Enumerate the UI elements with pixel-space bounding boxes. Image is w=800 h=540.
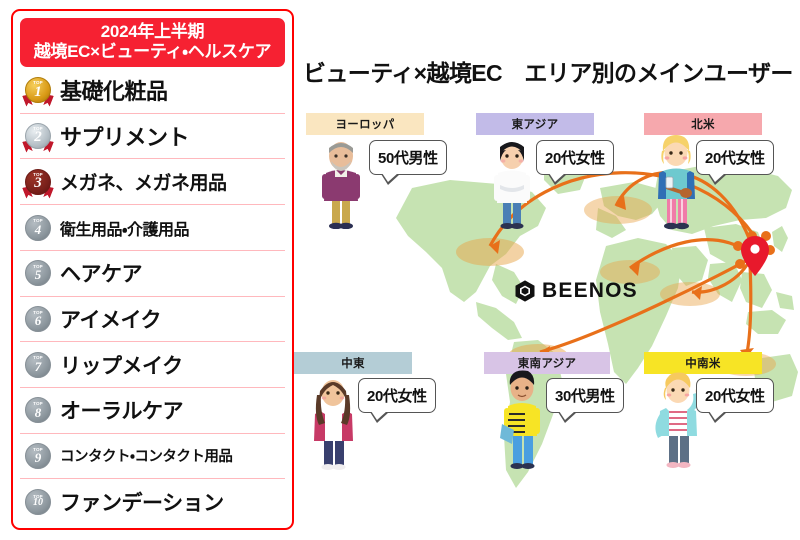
- infographic-root: 2024年上半期 越境EC×ビューティ・ヘルスケア TOP 1 基礎化粧品: [0, 0, 800, 540]
- ranking-item-label: 基礎化粧品: [60, 74, 168, 106]
- ranking-item-label: メガネ、メガネ用品: [60, 168, 227, 195]
- ranking-item-label: オーラルケア: [60, 395, 183, 425]
- map-title: ビューティ×越境EC エリア別のメインユーザー: [303, 54, 793, 88]
- ranking-item-5: TOP 5 ヘアケア: [20, 251, 285, 297]
- ranking-item-label: ファンデーション: [60, 487, 224, 517]
- location-pin-icon: [741, 236, 769, 276]
- ranking-item-7: TOP 7 リップメイク: [20, 342, 285, 388]
- ranking-item-1: TOP 1 基礎化粧品: [20, 68, 285, 114]
- ranking-item-4: TOP 4 衛生用品・介護用品: [20, 205, 285, 251]
- ranking-card: 2024年上半期 越境EC×ビューティ・ヘルスケア TOP 1 基礎化粧品: [11, 9, 294, 530]
- beenos-wordmark: BEENOS: [542, 279, 638, 303]
- ranking-item-6: TOP 6 アイメイク: [20, 297, 285, 343]
- medal-number: 2: [34, 130, 42, 145]
- bubble-east-asia: 20代女性: [536, 140, 614, 175]
- medal-number: 7: [35, 360, 42, 373]
- banner-line-1: 2024年上半期: [22, 22, 283, 42]
- medal-number: 3: [34, 176, 42, 191]
- medal-rank-5-icon: TOP 5: [23, 258, 53, 288]
- ranking-item-label: リップメイク: [60, 350, 183, 380]
- medal-disc: TOP 7: [25, 352, 51, 378]
- person-southeast-asia-avatar: [492, 368, 550, 477]
- ranking-item-8: TOP 8 オーラルケア: [20, 388, 285, 434]
- medal-rank-7-icon: TOP 7: [23, 350, 53, 380]
- medal-rank-9-icon: TOP 9: [23, 441, 53, 471]
- medal-number: 5: [35, 268, 42, 281]
- map-panel: ビューティ×越境EC エリア別のメインユーザー: [296, 0, 800, 540]
- medal-disc: TOP 10: [25, 489, 51, 515]
- medal-rank-4-icon: TOP 4: [23, 213, 53, 243]
- medal-rank-10-icon: TOP 10: [23, 487, 53, 517]
- ranking-item-9: TOP 9 コンタクト・コンタクト用品: [20, 434, 285, 480]
- medal-rank-6-icon: TOP 6: [23, 304, 53, 334]
- medal-rank-2-icon: TOP 2: [23, 121, 53, 151]
- region-middle-east-label: 中東: [294, 352, 412, 374]
- person-europe-avatar: [310, 137, 368, 234]
- ranking-item-2: TOP 2 サプリメント: [20, 114, 285, 160]
- ranking-item-3: TOP 3 メガネ、メガネ用品: [20, 159, 285, 205]
- ranking-item-label: ヘアケア: [60, 258, 142, 288]
- medal-disc: TOP 9: [25, 443, 51, 469]
- ranking-banner: 2024年上半期 越境EC×ビューティ・ヘルスケア: [20, 18, 285, 67]
- person-middle-east-avatar: [304, 373, 360, 476]
- ranking-item-label: コンタクト・コンタクト用品: [60, 445, 232, 466]
- region-europe-label: ヨーロッパ: [306, 113, 424, 135]
- medal-rank-8-icon: TOP 8: [23, 395, 53, 425]
- bubble-middle-east: 20代女性: [358, 378, 436, 413]
- bubble-latin-america: 20代女性: [696, 378, 774, 413]
- bubble-north-america: 20代女性: [696, 140, 774, 175]
- region-north-america: 北米: [644, 113, 762, 135]
- medal-number: 8: [35, 406, 42, 419]
- bubble-europe: 50代男性: [369, 140, 447, 175]
- ranking-list: TOP 1 基礎化粧品 TOP 2 サプリメント: [20, 68, 285, 524]
- medal-disc: TOP 8: [25, 397, 51, 423]
- region-east-asia-label: 東アジア: [476, 113, 594, 135]
- medal-disc: TOP 5: [25, 260, 51, 286]
- banner-line-2: 越境EC×ビューティ・ヘルスケア: [22, 42, 283, 62]
- region-europe: ヨーロッパ: [306, 113, 424, 135]
- medal-rank-1-icon: TOP 1: [23, 75, 53, 105]
- medal-number: 4: [35, 223, 42, 236]
- ranking-item-label: 衛生用品・介護用品: [60, 216, 189, 240]
- ranking-item-label: アイメイク: [60, 304, 161, 334]
- region-middle-east: 中東: [294, 352, 412, 374]
- medal-disc: TOP 3: [25, 169, 51, 195]
- medal-disc: TOP 4: [25, 215, 51, 241]
- ranking-item-label: サプリメント: [60, 120, 189, 152]
- medal-number: 6: [35, 314, 42, 327]
- medal-number: 1: [34, 85, 42, 100]
- medal-disc: TOP 2: [25, 123, 51, 149]
- bubble-southeast-asia: 30代男性: [546, 378, 624, 413]
- medal-number: 9: [35, 451, 42, 464]
- region-north-america-label: 北米: [644, 113, 762, 135]
- beenos-hexagon-icon: [513, 279, 537, 303]
- medal-disc: TOP 6: [25, 306, 51, 332]
- medal-number: 10: [33, 498, 43, 508]
- beenos-logo: BEENOS: [513, 279, 638, 303]
- region-east-asia: 東アジア: [476, 113, 594, 135]
- ranking-item-10: TOP 10 ファンデーション: [20, 479, 285, 524]
- person-east-asia-avatar: [482, 137, 538, 234]
- medal-rank-3-icon: TOP 3: [23, 167, 53, 197]
